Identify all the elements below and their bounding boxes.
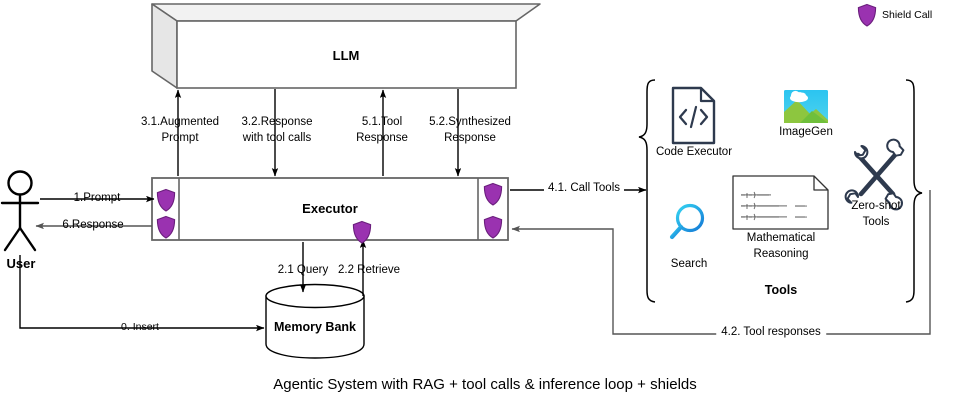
memory-bank-node[interactable] — [266, 285, 364, 359]
user-node[interactable] — [2, 172, 38, 251]
diagram-canvas: LLM Executor Memory Bank User Tools 1.Pr… — [0, 0, 970, 411]
tools-right-brace — [906, 80, 922, 302]
tools-left-brace — [639, 80, 655, 302]
executor-node[interactable] — [152, 178, 508, 240]
formula-document-icon — [733, 176, 828, 229]
crossed-tools-icon — [846, 140, 904, 210]
llm-node[interactable] — [152, 4, 540, 88]
code-document-icon — [673, 88, 714, 143]
flow-tool-responses-arrow — [512, 190, 930, 334]
magnifier-icon — [672, 206, 703, 238]
architecture-diagram — [0, 0, 970, 411]
image-picture-icon — [784, 90, 828, 123]
shield-icon-legend — [858, 5, 875, 27]
flow-insert-arrow — [20, 255, 264, 328]
